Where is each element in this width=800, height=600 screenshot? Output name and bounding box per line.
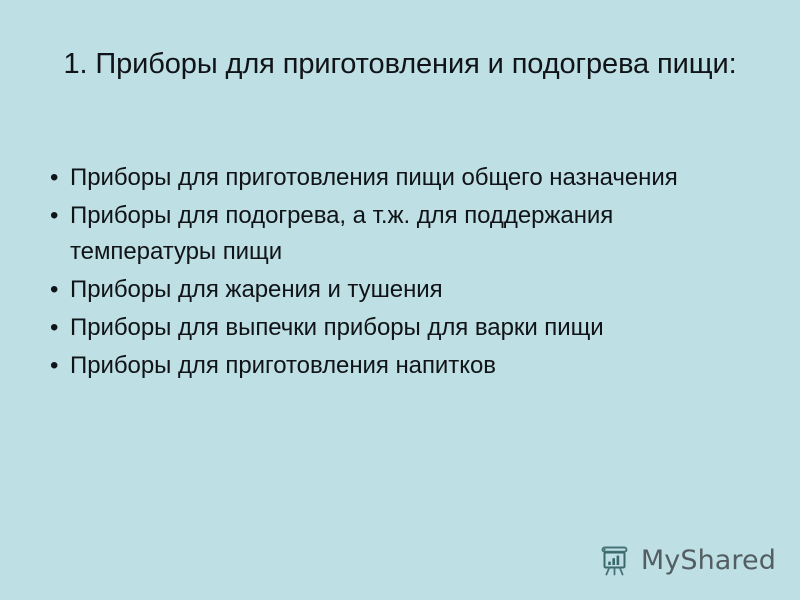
bullet-marker-icon: • xyxy=(50,348,64,384)
bullet-marker-icon: • xyxy=(50,198,64,234)
slide-title: 1. Приборы для приготовления и подогрева… xyxy=(62,44,738,84)
list-item-label: Приборы для приготовления пищи общего на… xyxy=(70,160,744,196)
flipchart-bar-chart-icon xyxy=(598,544,632,578)
list-item: • Приборы для выпечки приборы для варки … xyxy=(44,310,744,346)
list-item: • Приборы для подогрева, а т.ж. для подд… xyxy=(44,198,744,270)
myshared-watermark: MyShared xyxy=(598,544,776,578)
list-item-label: Приборы для жарения и тушения xyxy=(70,272,744,308)
list-item-label: Приборы для выпечки приборы для варки пи… xyxy=(70,310,744,346)
myshared-label: MyShared xyxy=(641,546,776,576)
list-item: • Приборы для жарения и тушения xyxy=(44,272,744,308)
list-item: • Приборы для приготовления напитков xyxy=(44,348,744,384)
list-item: • Приборы для приготовления пищи общего … xyxy=(44,160,744,196)
slide-bullet-list: • Приборы для приготовления пищи общего … xyxy=(44,160,744,386)
bullet-marker-icon: • xyxy=(50,272,64,308)
list-item-label: Приборы для приготовления напитков xyxy=(70,348,744,384)
bullet-marker-icon: • xyxy=(50,310,64,346)
bullet-marker-icon: • xyxy=(50,160,64,196)
list-item-label: Приборы для подогрева, а т.ж. для поддер… xyxy=(70,198,744,270)
presentation-slide: 1. Приборы для приготовления и подогрева… xyxy=(0,0,800,600)
